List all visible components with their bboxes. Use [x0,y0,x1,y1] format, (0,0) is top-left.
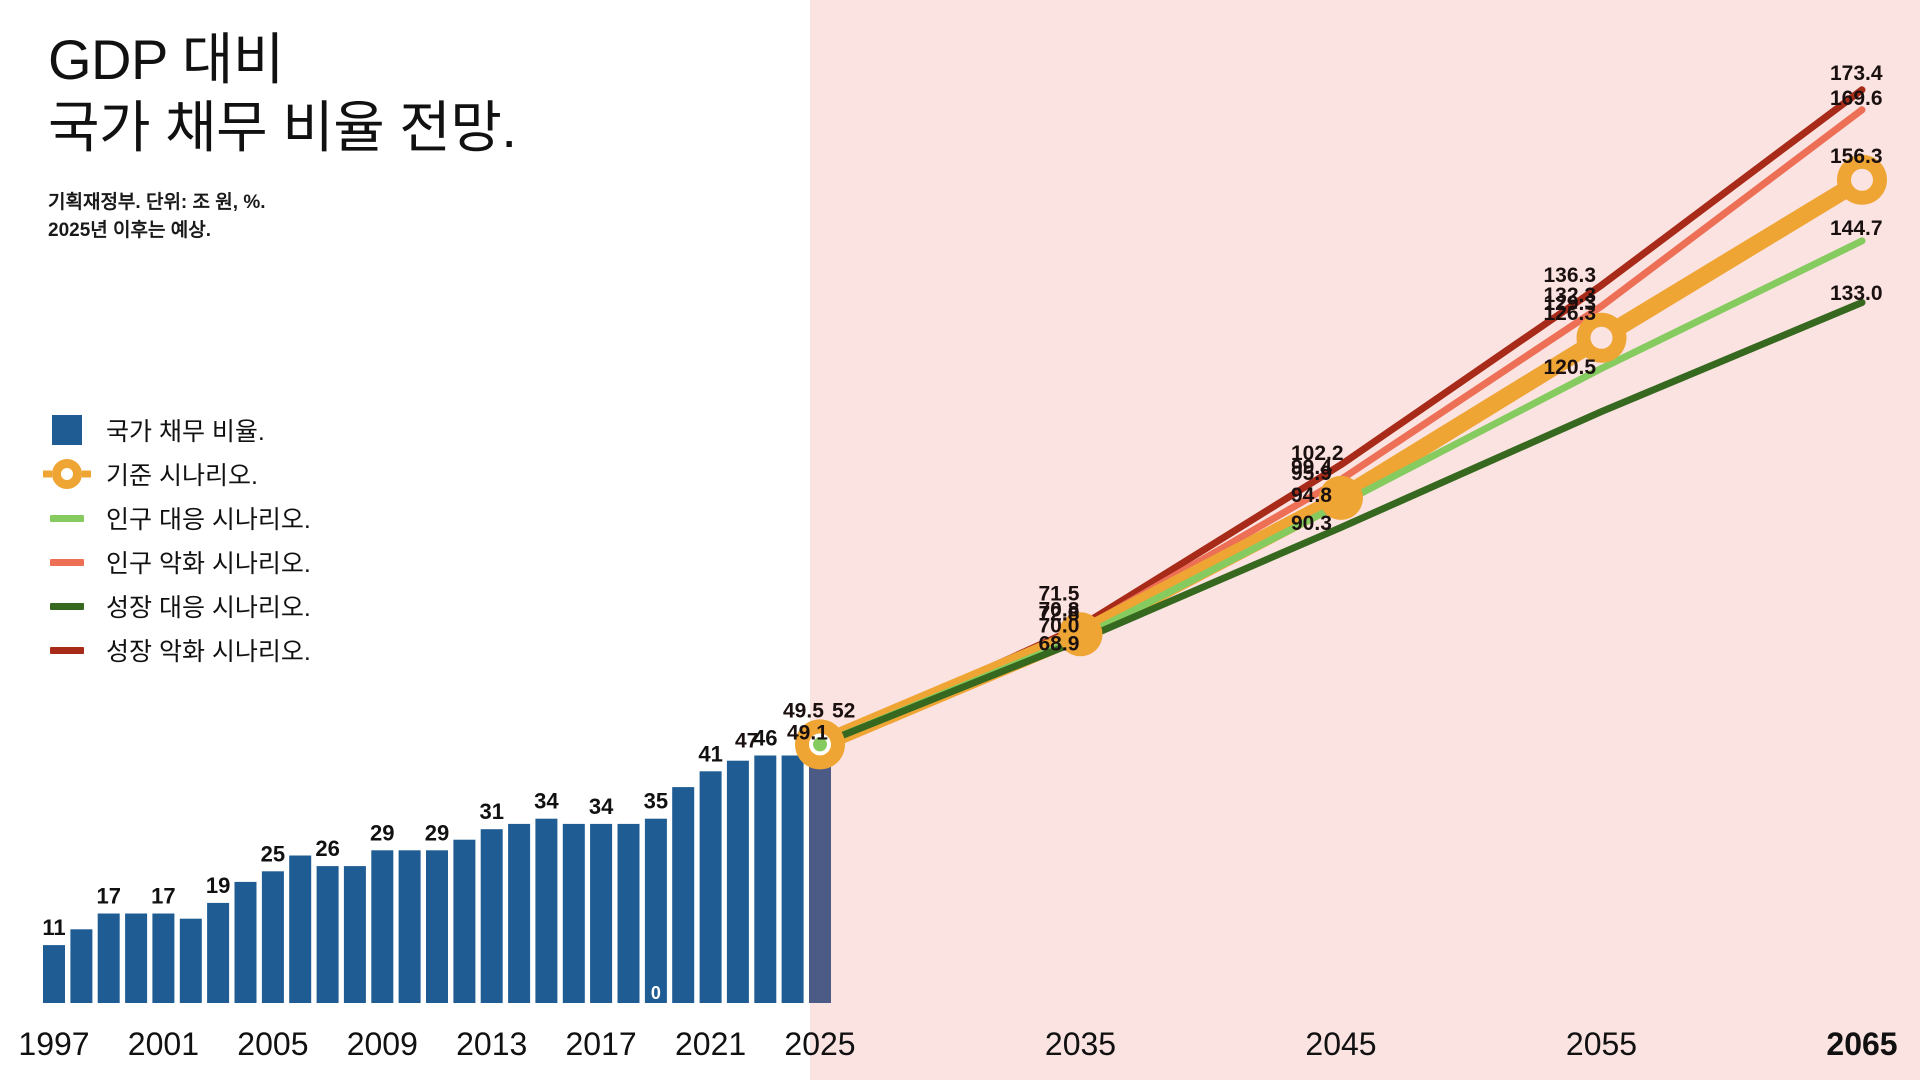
bar-2001 [152,914,174,1004]
bar-2020 [672,787,694,1003]
bar-2017 [590,824,612,1003]
point-label-2065-4: 133.0 [1830,282,1883,305]
point-label-2065-3: 144.7 [1830,217,1883,240]
axis-tick-2009: 2009 [347,1026,418,1062]
bar-2016 [563,824,585,1003]
plot-area: 1117171925262929313434354146049.55249.14… [0,0,1920,1080]
bar-2014 [508,824,530,1003]
point-label-2035-4: 68.9 [1039,632,1080,655]
point-label-2065-0: 173.4 [1830,62,1883,85]
bar-label-1999: 17 [96,884,120,909]
bar-2005 [262,871,284,1003]
bar-2006 [289,856,311,1004]
bar-2024 [782,756,804,1004]
axis-tick-2017: 2017 [566,1026,637,1062]
axis-tick-2055: 2055 [1566,1026,1637,1062]
bar-2018 [618,824,640,1003]
bar-2003 [207,903,229,1003]
point-label-2055-3: 126.3 [1544,302,1597,325]
bar-2004 [235,882,257,1003]
axis-tick-2005: 2005 [237,1026,308,1062]
point-label-2065-2: 156.3 [1830,145,1883,168]
axis-tick-2065: 2065 [1826,1026,1897,1062]
point-label-2045-4: 90.3 [1291,512,1332,535]
point-label-2045-3: 94.8 [1291,484,1332,507]
bar-1998 [70,929,92,1003]
bar-label-1997: 11 [42,915,65,940]
bar-label-2021: 41 [698,741,722,766]
point-label-2065-1: 169.6 [1830,87,1883,110]
marker-hole [1591,327,1613,349]
bar-label-2005: 25 [261,841,285,866]
line-0 [820,90,1862,745]
bar-2009 [371,850,393,1003]
bar-2021 [700,771,722,1003]
bar-1999 [98,914,120,1004]
bar-2023 [754,756,776,1004]
axis-tick-2035: 2035 [1045,1026,1116,1062]
bar-label-2011: 29 [425,820,449,845]
bar-label-2015: 34 [534,789,559,814]
bar-zero-mark: 0 [651,983,661,1003]
bar-label-2013: 31 [479,799,503,824]
bar-2015 [535,819,557,1003]
axis-tick-2001: 2001 [128,1026,199,1062]
bar-label-2003: 19 [206,873,230,898]
axis-tick-2045: 2045 [1305,1026,1376,1062]
bar-2011 [426,850,448,1003]
bar-label-2019: 35 [644,789,668,814]
bar-label-2017: 34 [589,794,614,819]
bar-2022 [727,761,749,1003]
point-label-2025-2: 49.1 [787,721,828,744]
bar-2008 [344,866,366,1003]
point-label-2045-2: 95.9 [1291,462,1332,485]
chart-canvas: GDP 대비 국가 채무 비율 전망. 기획재정부. 단위: 조 원, %. 2… [0,0,1920,1080]
axis-tick-2025: 2025 [784,1026,855,1062]
point-label-2025-1: 52 [832,699,855,722]
bar-label-2001: 17 [151,884,175,909]
point-label-2025-0: 49.5 [783,699,824,722]
axis-tick-2021: 2021 [675,1026,746,1062]
point-label-2025-3: 47 [735,729,758,752]
bar-2025 [809,745,831,1003]
bar-2002 [180,919,202,1003]
bar-2013 [481,829,503,1003]
bar-1997 [43,945,65,1003]
plot-svg: 1117171925262929313434354146049.55249.14… [0,0,1920,1080]
line-4 [820,303,1862,745]
bar-group [43,745,831,1003]
bar-label-2009: 29 [370,820,394,845]
bar-label-2007: 26 [315,836,339,861]
point-label-2055-4: 120.5 [1544,356,1597,379]
bar-2012 [453,840,475,1003]
axis-tick-2013: 2013 [456,1026,527,1062]
bar-2010 [399,850,421,1003]
bar-2000 [125,914,147,1004]
axis-tick-1997: 1997 [18,1026,89,1062]
bar-2019 [645,819,667,1003]
marker-hole [1851,169,1873,191]
bar-2007 [317,866,339,1003]
